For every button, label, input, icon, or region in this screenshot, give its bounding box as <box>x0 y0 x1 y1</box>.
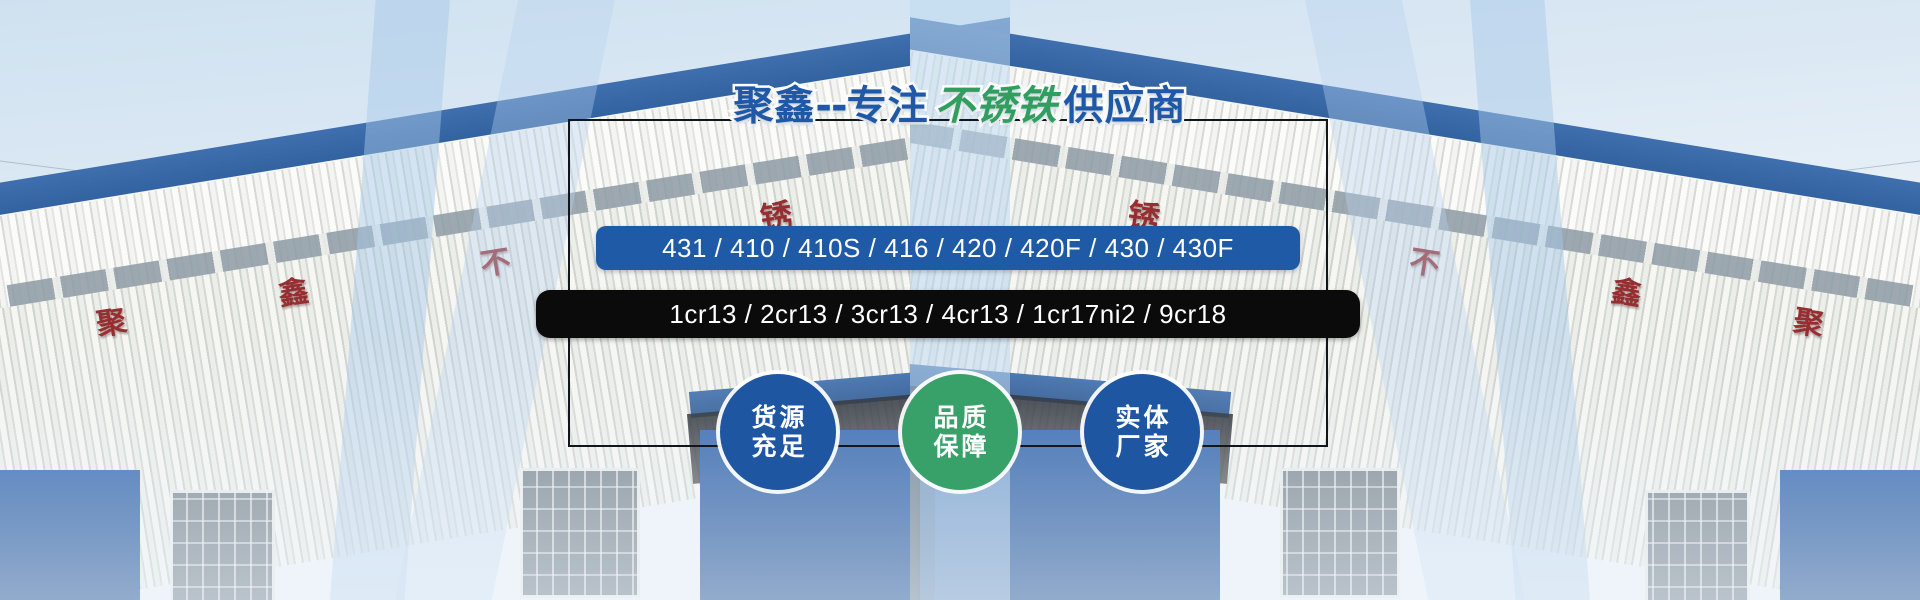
grade-bar-blue-text: 431 / 410 / 410S / 416 / 420 / 420F / 43… <box>662 233 1234 264</box>
feature-badges: 货源 充足 品质 保障 实体 厂家 <box>0 374 1920 490</box>
badge-factory-line2: 厂家 <box>1112 432 1171 462</box>
banner-headline: 聚鑫--专注不锈铁供应商 <box>0 86 1920 126</box>
grade-bar-black: 1cr13 / 2cr13 / 3cr13 / 4cr13 / 1cr17ni2… <box>536 290 1360 338</box>
badge-quality-line2: 保障 <box>930 432 989 462</box>
headline-part-1: 聚鑫 <box>733 86 815 126</box>
badge-factory: 实体 厂家 <box>1084 374 1200 490</box>
banner-overlay: 聚鑫--专注不锈铁供应商 431 / 410 / 410S / 416 / 42… <box>0 0 1920 600</box>
badge-supply-line1: 货源 <box>748 403 807 433</box>
headline-highlight: 不锈铁 <box>929 86 1064 126</box>
hero-banner: 聚 鑫 不 锈 聚 鑫 <box>0 0 1920 600</box>
headline-dash: -- <box>815 86 846 126</box>
grade-bar-blue: 431 / 410 / 410S / 416 / 420 / 420F / 43… <box>596 226 1300 270</box>
badge-factory-line1: 实体 <box>1112 403 1171 433</box>
badge-quality-line1: 品质 <box>930 403 989 433</box>
headline-part-3: 供应商 <box>1064 86 1187 126</box>
headline-part-2: 专注 <box>847 86 929 126</box>
grade-bar-black-text: 1cr13 / 2cr13 / 3cr13 / 4cr13 / 1cr17ni2… <box>669 299 1226 330</box>
badge-quality: 品质 保障 <box>902 374 1018 490</box>
badge-supply: 货源 充足 <box>720 374 836 490</box>
badge-supply-line2: 充足 <box>748 432 807 462</box>
